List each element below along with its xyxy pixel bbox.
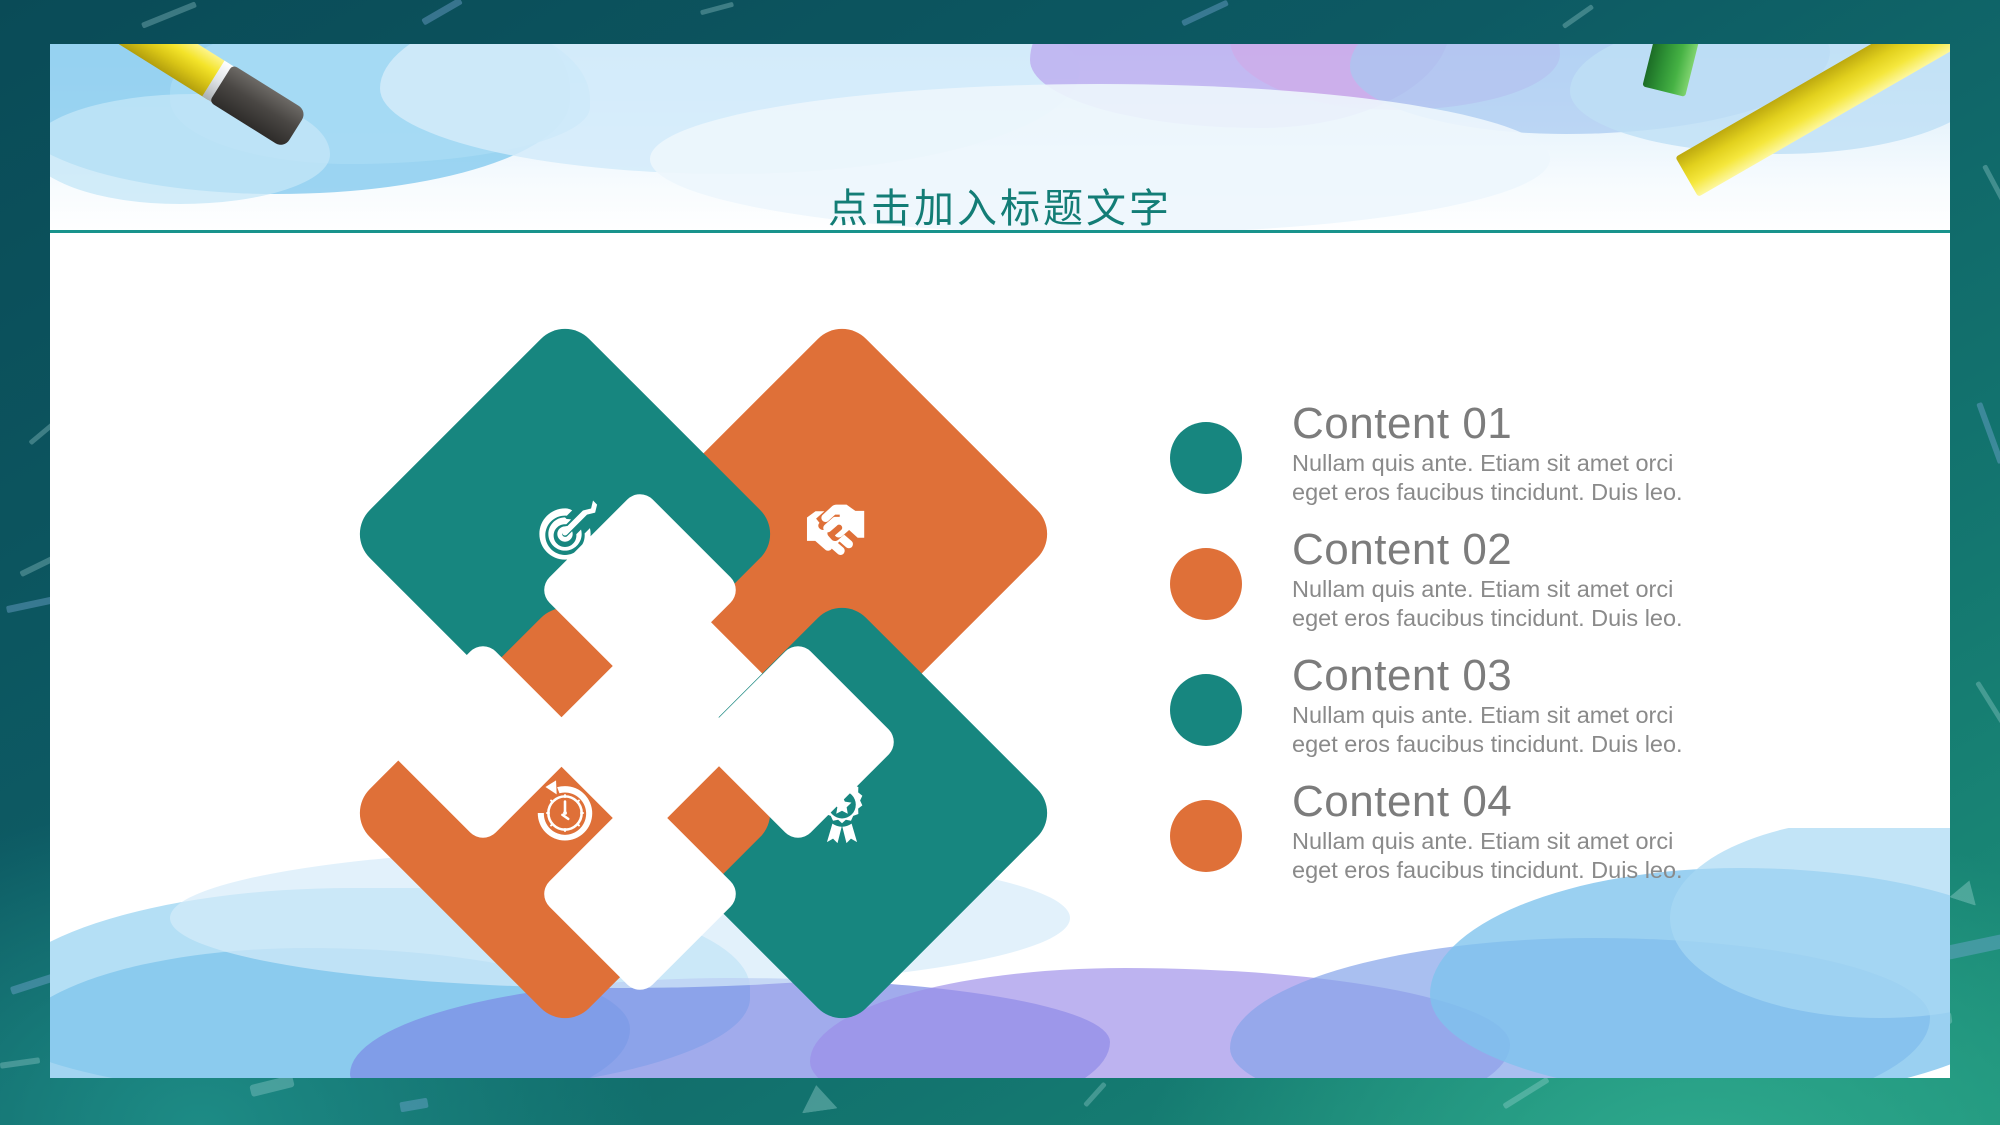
item-heading: Content 04 [1292,780,1890,824]
green-pencil [1642,44,1757,97]
chalk-streak [1982,164,2000,241]
item-body: Nullam quis ante. Etiam sit amet orci eg… [1292,701,1702,758]
bullet-dot [1170,548,1242,620]
bullet-dot [1170,674,1242,746]
slide-card: 点击加入标题文字 [50,44,1950,1078]
list-item[interactable]: Content 02 Nullam quis ante. Etiam sit a… [1170,528,1890,654]
chalk-shard [1949,876,1982,906]
item-heading: Content 02 [1292,528,1890,572]
yellow-pencil [1675,44,1950,197]
chalk-streak [1975,681,2000,724]
chalk-streak [421,0,463,26]
chalk-streak [1181,0,1229,26]
yellow-pencil-with-eraser [50,44,232,101]
list-item[interactable]: Content 04 Nullam quis ante. Etiam sit a… [1170,780,1890,906]
item-heading: Content 03 [1292,654,1890,698]
watercolor-blob [1230,44,1560,110]
watercolor-blob [380,44,1080,174]
item-body: Nullam quis ante. Etiam sit amet orci eg… [1292,449,1702,506]
content-list: Content 01 Nullam quis ante. Etiam sit a… [1170,402,1890,906]
page-title: 点击加入标题文字 [50,176,1950,234]
item-heading: Content 01 [1292,402,1890,446]
chalk-streak [1562,4,1594,29]
chalk-streak [1083,1082,1107,1108]
list-item[interactable]: Content 03 Nullam quis ante. Etiam sit a… [1170,654,1890,780]
chalk-streak [0,1057,40,1069]
chalk-shard [249,1075,295,1097]
list-item[interactable]: Content 01 Nullam quis ante. Etiam sit a… [1170,402,1890,528]
chalk-streak [1502,1077,1549,1110]
watercolor-blob [1030,44,1450,128]
watercolor-blob [1230,938,1930,1078]
chalk-shard [399,1098,428,1113]
chalkboard-background: 点击加入标题文字 [0,0,2000,1125]
diamond-bottom-left[interactable] [346,594,784,1032]
diamond-infographic [405,379,1045,1019]
chalk-streak [1976,402,2000,464]
bullet-dot [1170,800,1242,872]
chalk-streak [700,2,734,16]
chalk-streak [141,1,197,28]
chalk-shard [1945,934,2000,960]
item-body: Nullam quis ante. Etiam sit amet orci eg… [1292,575,1702,632]
item-body: Nullam quis ante. Etiam sit amet orci eg… [1292,827,1702,884]
handshake-icon [801,493,883,575]
bullet-dot [1170,422,1242,494]
chalk-shard [798,1083,837,1114]
